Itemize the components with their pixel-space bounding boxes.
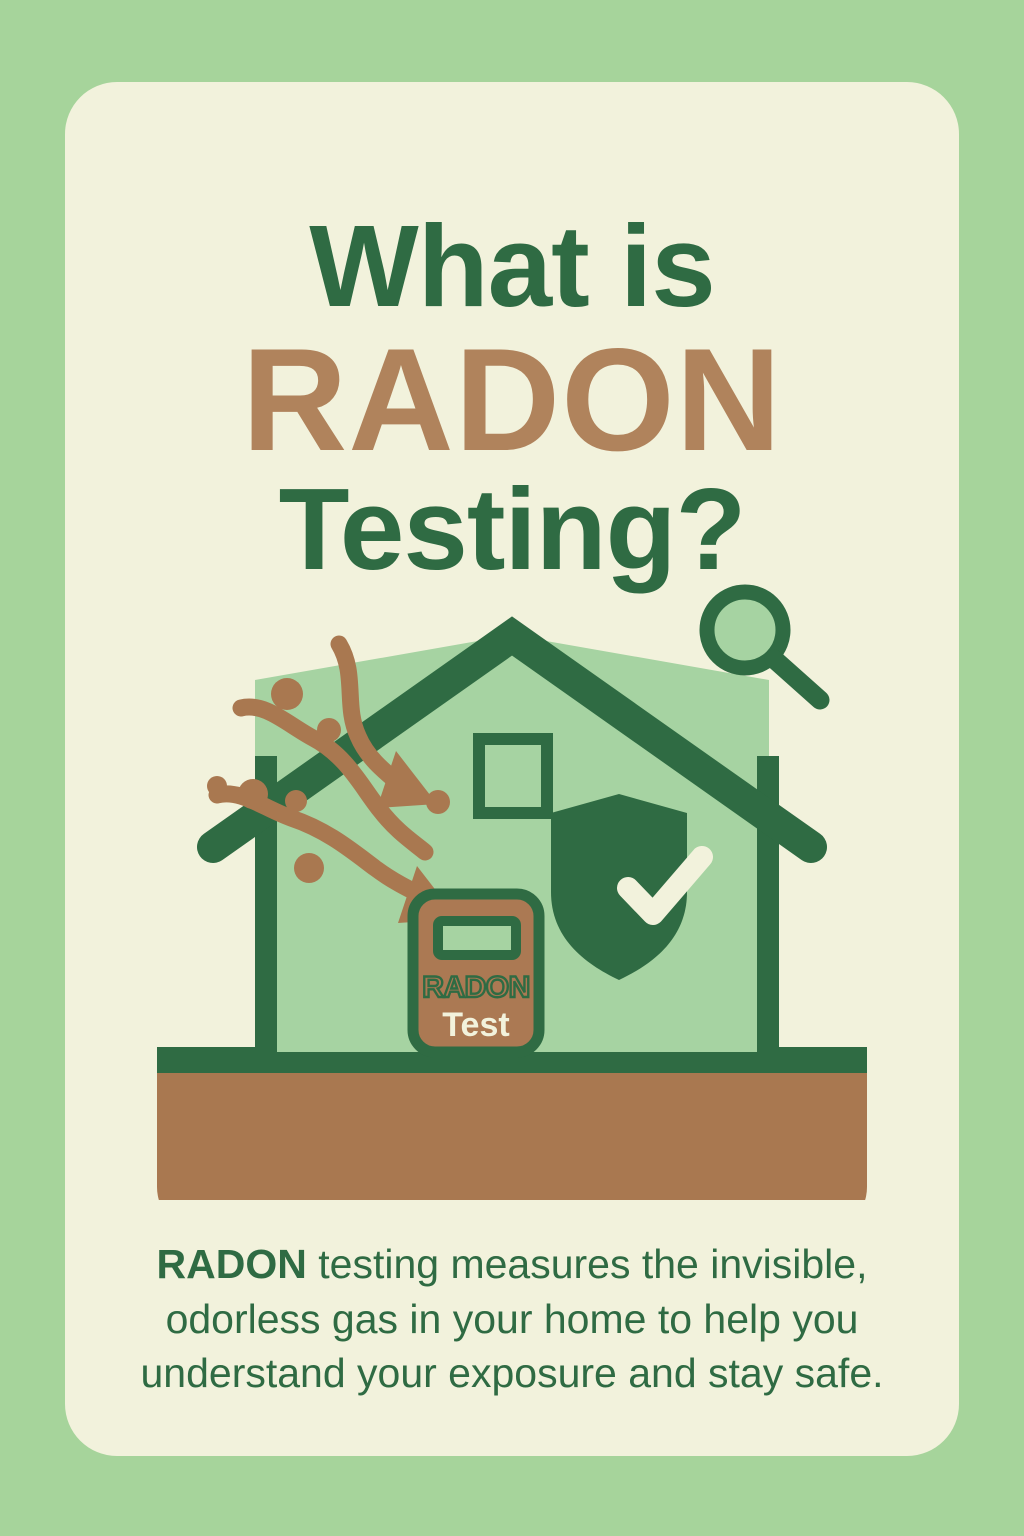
caption-text: RADON testing measures the invisible, od… bbox=[113, 1237, 911, 1401]
gas-particle bbox=[207, 776, 227, 796]
radon-house-illustration: RADON Test bbox=[65, 540, 959, 1200]
soil-block bbox=[157, 1069, 867, 1200]
caption-line-2: odorless gas in your home to help you bbox=[113, 1292, 911, 1347]
poster-root: What is RADON Testing? bbox=[0, 0, 1024, 1536]
gas-particle bbox=[426, 790, 450, 814]
caption-line-1: RADON testing measures the invisible, bbox=[113, 1237, 911, 1292]
device-label-radon: RADON bbox=[422, 971, 530, 1004]
gas-particle bbox=[285, 790, 307, 812]
gas-particle bbox=[317, 718, 341, 742]
gas-particle bbox=[294, 853, 324, 883]
caption-bold-radon: RADON bbox=[157, 1241, 307, 1287]
title-line-radon: RADON bbox=[65, 328, 959, 471]
caption-line-3: understand your exposure and stay safe. bbox=[113, 1346, 911, 1401]
page-title: What is RADON Testing? bbox=[65, 210, 959, 586]
gas-particle bbox=[238, 779, 268, 809]
poster-card: What is RADON Testing? bbox=[65, 82, 959, 1456]
ground-soil-group bbox=[157, 1047, 867, 1200]
gas-particle bbox=[271, 678, 303, 710]
device-display bbox=[438, 921, 516, 955]
device-label-test: Test bbox=[442, 1006, 509, 1044]
radon-test-device: RADON Test bbox=[413, 894, 539, 1052]
title-line-what-is: What is bbox=[65, 210, 959, 324]
caption-line-1-rest: testing measures the invisible, bbox=[307, 1241, 868, 1287]
magnifier-handle bbox=[774, 659, 820, 700]
